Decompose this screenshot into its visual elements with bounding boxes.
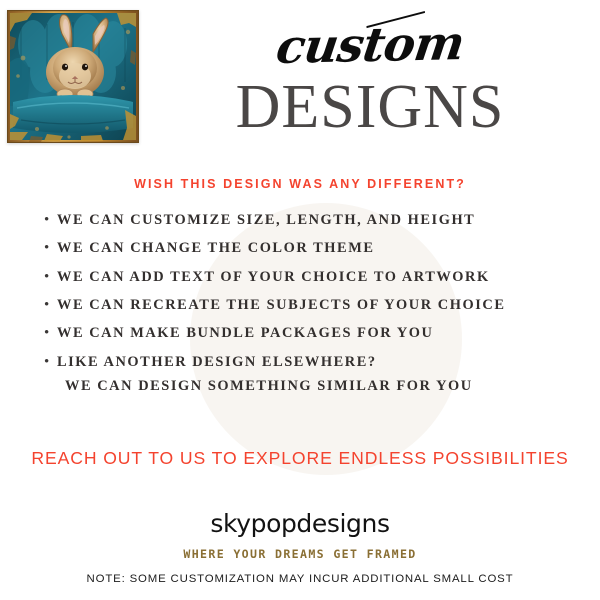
list-item-label: WE CAN ADD TEXT OF YOUR CHOICE TO ARTWOR… xyxy=(57,270,490,286)
list-item: • WE CAN CUSTOMIZE SIZE, LENGTH, AND HEI… xyxy=(44,213,589,229)
list-item-label: WE CAN DESIGN SOMETHING SIMILAR FOR YOU xyxy=(57,379,473,395)
bullet-marker-icon: • xyxy=(44,355,57,370)
customization-options-list: • WE CAN CUSTOMIZE SIZE, LENGTH, AND HEI… xyxy=(44,213,589,395)
list-item-label: WE CAN RECREATE THE SUBJECTS OF YOUR CHO… xyxy=(57,298,505,314)
brand-tagline: WHERE YOUR DREAMS GET FRAMED xyxy=(0,547,600,561)
bullet-marker-icon: • xyxy=(44,298,57,313)
promo-graphic-canvas: custom DESIGNS WISH THIS DESIGN WAS ANY … xyxy=(0,0,600,600)
list-item-label: WE CAN CHANGE THE COLOR THEME xyxy=(57,241,374,257)
bullet-marker-icon: • xyxy=(44,213,57,228)
heading-block: custom DESIGNS xyxy=(150,22,590,139)
footer-disclaimer-note: NOTE: SOME CUSTOMIZATION MAY INCUR ADDIT… xyxy=(0,573,600,585)
product-artwork-image[interactable] xyxy=(7,10,139,143)
list-item-continuation: WE CAN DESIGN SOMETHING SIMILAR FOR YOU xyxy=(44,379,589,395)
list-item: • WE CAN RECREATE THE SUBJECTS OF YOUR C… xyxy=(44,298,589,314)
list-item: • WE CAN CHANGE THE COLOR THEME xyxy=(44,241,589,257)
list-item-label: LIKE ANOTHER DESIGN ELSEWHERE? xyxy=(57,355,377,371)
brand-wordmark: skypopdesigns xyxy=(0,509,600,538)
list-item: • LIKE ANOTHER DESIGN ELSEWHERE? xyxy=(44,355,589,371)
bullet-marker-icon: • xyxy=(44,270,57,285)
question-subheading: WISH THIS DESIGN WAS ANY DIFFERENT? xyxy=(0,177,600,191)
script-heading-custom: custom xyxy=(273,20,466,71)
list-item: • WE CAN ADD TEXT OF YOUR CHOICE TO ARTW… xyxy=(44,270,589,286)
bullet-marker-icon: • xyxy=(44,241,57,256)
list-item-label: WE CAN MAKE BUNDLE PACKAGES FOR YOU xyxy=(57,326,433,342)
list-item: • WE CAN MAKE BUNDLE PACKAGES FOR YOU xyxy=(44,326,589,342)
rabbit-on-teal-chair-illustration xyxy=(7,10,139,143)
bullet-marker-icon: • xyxy=(44,326,57,341)
serif-heading-designs: DESIGNS xyxy=(150,76,590,139)
list-item-label: WE CAN CUSTOMIZE SIZE, LENGTH, AND HEIGH… xyxy=(57,213,475,229)
call-to-action-text: REACH OUT TO US TO EXPLORE ENDLESS POSSI… xyxy=(0,448,600,469)
